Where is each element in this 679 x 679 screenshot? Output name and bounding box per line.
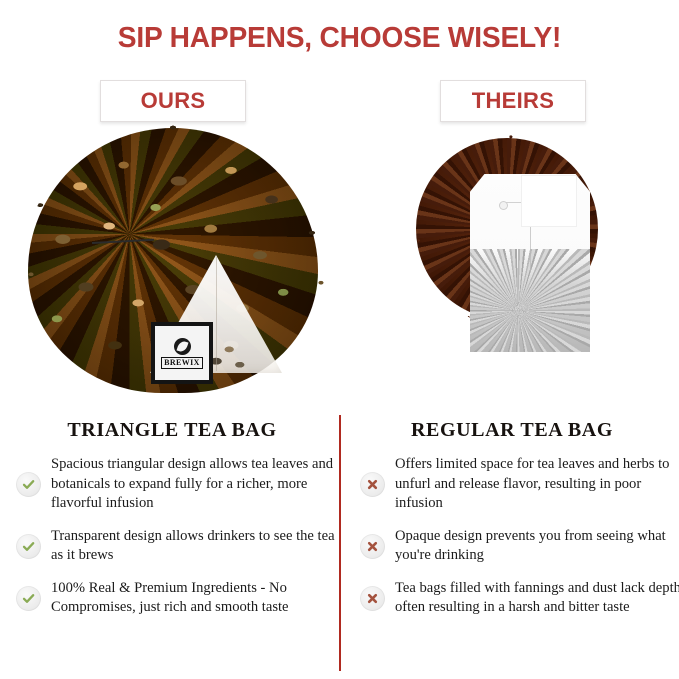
check-icon: [16, 534, 41, 559]
list-item-text: 100% Real & Premium Ingredients - No Com…: [51, 579, 346, 618]
brand-tag: BREWIX: [151, 322, 213, 384]
pyramid-bag-seam: [216, 257, 217, 371]
heading-regular-tea-bag: REGULAR TEA BAG: [347, 419, 677, 442]
badge-theirs: THEIRS: [440, 80, 586, 122]
brewix-leaf-logo-icon: [174, 338, 191, 355]
list-item: Spacious triangular design allows tea le…: [16, 455, 346, 514]
product-image-stage: BREWIX: [0, 120, 679, 405]
cross-icon: [360, 472, 385, 497]
list-item: 100% Real & Premium Ingredients - No Com…: [16, 579, 346, 618]
brand-name: BREWIX: [161, 357, 203, 369]
cross-icon: [360, 586, 385, 611]
list-item-text: Tea bags filled with fannings and dust l…: [395, 579, 679, 618]
theirs-drawback-list: Offers limited space for tea leaves and …: [360, 455, 679, 631]
page-title: SIP HAPPENS, CHOOSE WISELY!: [10, 22, 669, 55]
list-item-text: Transparent design allows drinkers to se…: [51, 527, 346, 566]
list-item-text: Opaque design prevents you from seeing w…: [395, 527, 679, 566]
heading-triangle-tea-bag: TRIANGLE TEA BAG: [7, 419, 337, 442]
ours-benefit-list: Spacious triangular design allows tea le…: [16, 455, 346, 631]
check-icon: [16, 472, 41, 497]
badge-theirs-label: THEIRS: [472, 88, 554, 114]
badge-ours: OURS: [100, 80, 246, 122]
list-item: Opaque design prevents you from seeing w…: [360, 527, 679, 566]
list-item-text: Offers limited space for tea leaves and …: [395, 455, 679, 514]
list-item: Tea bags filled with fannings and dust l…: [360, 579, 679, 618]
paper-bag-staple: [500, 202, 507, 209]
paper-bag-label: [522, 176, 576, 226]
list-item: Offers limited space for tea leaves and …: [360, 455, 679, 514]
check-icon: [16, 586, 41, 611]
cross-icon: [360, 534, 385, 559]
theirs-product-image: [340, 120, 679, 405]
list-item-text: Spacious triangular design allows tea le…: [51, 455, 346, 514]
square-paper-tea-bag: [470, 174, 590, 352]
list-item: Transparent design allows drinkers to se…: [16, 527, 346, 566]
ours-product-image: BREWIX: [0, 120, 340, 405]
badge-ours-label: OURS: [141, 88, 206, 114]
brand-tag-inner: BREWIX: [155, 326, 209, 380]
